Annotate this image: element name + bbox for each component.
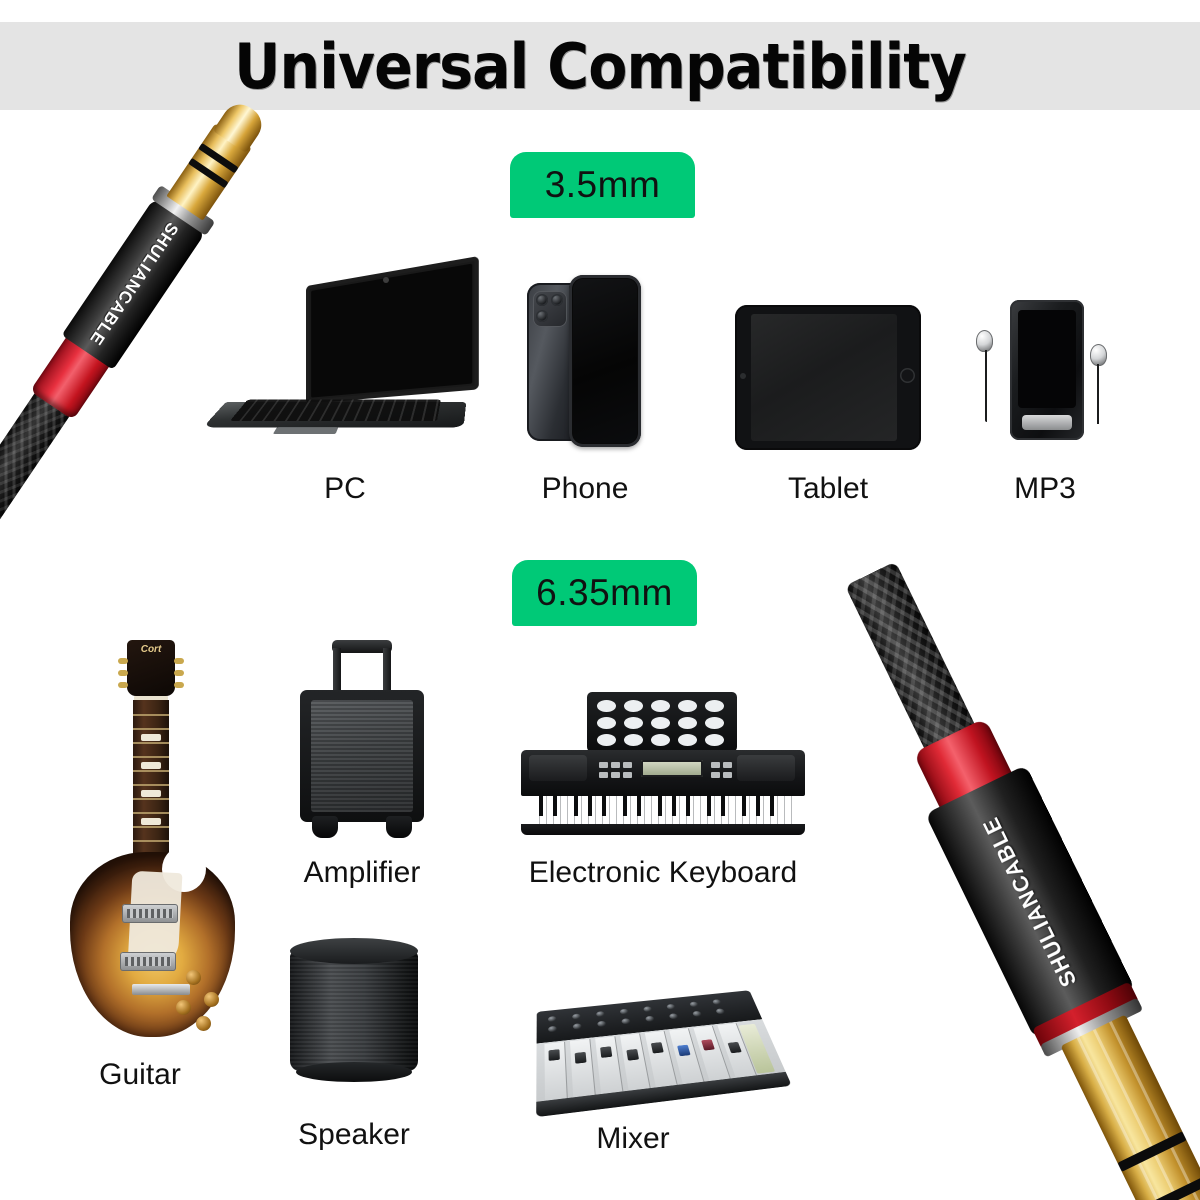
guitar-tuner (174, 670, 184, 676)
phone-camera-module-icon (533, 291, 567, 327)
guitar-control-knob (196, 1016, 211, 1031)
amplifier-wheel (312, 816, 338, 838)
device-tablet-icon (735, 305, 921, 450)
guitar-fret-inlay (141, 734, 161, 741)
phone-camera-lens (536, 310, 548, 322)
guitar-fret (133, 826, 169, 828)
mixer-fader (600, 1046, 612, 1058)
guitar-fret (133, 742, 169, 744)
laptop-keyboard (230, 400, 441, 421)
laptop-webcam-icon (383, 277, 389, 283)
device-mp3-player-icon (970, 292, 1120, 452)
phone-camera-lens (551, 294, 563, 306)
mp3-screen (1018, 310, 1076, 408)
caption-speaker: Speaker (254, 1118, 454, 1152)
phone-camera-lens (536, 294, 548, 306)
page-title: Universal Compatibility (48, 22, 1152, 110)
laptop-screen (306, 256, 479, 404)
guitar-control-knob (204, 992, 219, 1007)
braided-cable-right (845, 561, 979, 756)
guitar-fret (133, 784, 169, 786)
speaker-body (290, 951, 418, 1071)
guitar-fret (133, 770, 169, 772)
badge-3-5mm: 3.5mm (510, 152, 695, 218)
guitar-fret (133, 798, 169, 800)
guitar-fret-inlay (141, 818, 161, 825)
guitar-fret (133, 714, 169, 716)
badge-6-35mm-label: 6.35mm (536, 572, 673, 614)
caption-phone: Phone (485, 472, 685, 506)
mixer-fader (651, 1042, 664, 1053)
phone-front-screen (569, 275, 641, 447)
earbud-left-icon (976, 330, 993, 352)
caption-guitar: Guitar (40, 1058, 240, 1092)
guitar-fret-inlay (141, 762, 161, 769)
guitar-tuner (118, 682, 128, 688)
tablet-camera-icon (740, 373, 746, 379)
guitar-bridge (132, 984, 190, 995)
tablet-home-button (900, 368, 915, 383)
guitar-control-knob (186, 970, 201, 985)
guitar-tuner (118, 658, 128, 664)
earbud-wire-right (1097, 364, 1099, 424)
device-amplifier-icon (292, 640, 432, 840)
keyboard-speaker-left (529, 755, 587, 781)
amplifier-handle-rail (383, 648, 391, 692)
device-electric-guitar-icon: Cort (70, 640, 235, 1040)
guitar-control-knob (176, 1000, 191, 1015)
mixer-fader (626, 1049, 639, 1061)
guitar-fret (133, 728, 169, 730)
amplifier-wheel (386, 816, 412, 838)
guitar-brand-logo: Cort (127, 644, 175, 655)
guitar-fret (133, 756, 169, 758)
guitar-fret (133, 840, 169, 842)
connector-brand-left-text: SHULIANCABLE (85, 219, 182, 349)
guitar-tuner (174, 682, 184, 688)
connector-brand-right-text: SHULIANCABLE (978, 813, 1083, 991)
connector-6-35mm: SHULIANCABLE (800, 580, 1200, 1200)
badge-3-5mm-label: 3.5mm (545, 164, 661, 206)
caption-mixer: Mixer (518, 1122, 748, 1156)
speaker-base (296, 1062, 412, 1082)
caption-amplifier: Amplifier (262, 856, 462, 890)
guitar-fret (133, 812, 169, 814)
caption-pc: PC (245, 472, 445, 506)
mixer-fader (575, 1052, 587, 1064)
tablet-screen (751, 314, 897, 441)
laptop-trackpad (273, 427, 338, 434)
device-bluetooth-speaker-icon (288, 938, 420, 1090)
earbud-wire-left (985, 350, 987, 422)
guitar-pickup-bridge (120, 952, 176, 971)
device-smartphone-icon (525, 275, 645, 450)
device-laptop-icon (205, 272, 485, 452)
amplifier-speaker-grill (311, 700, 413, 812)
caption-tablet: Tablet (728, 472, 928, 506)
keyboard-lcd-display (641, 760, 703, 777)
product-infographic: Universal Compatibility 3.5mm SHULIANCAB… (0, 0, 1200, 1200)
earbud-right-icon (1090, 344, 1107, 366)
mixer-fader (549, 1049, 560, 1061)
mp3-control-pad (1022, 415, 1072, 430)
badge-6-35mm: 6.35mm (512, 560, 697, 626)
guitar-tuner (174, 658, 184, 664)
guitar-pickup-neck (122, 904, 178, 923)
guitar-tuner (118, 670, 128, 676)
amplifier-handle-rail (333, 648, 341, 692)
connector-brand-left: SHULIANCABLE (62, 198, 206, 370)
caption-mp3: MP3 (950, 472, 1140, 506)
device-audio-mixer-icon (538, 968, 778, 1118)
guitar-fret-inlay (141, 790, 161, 797)
speaker-top (290, 938, 418, 964)
